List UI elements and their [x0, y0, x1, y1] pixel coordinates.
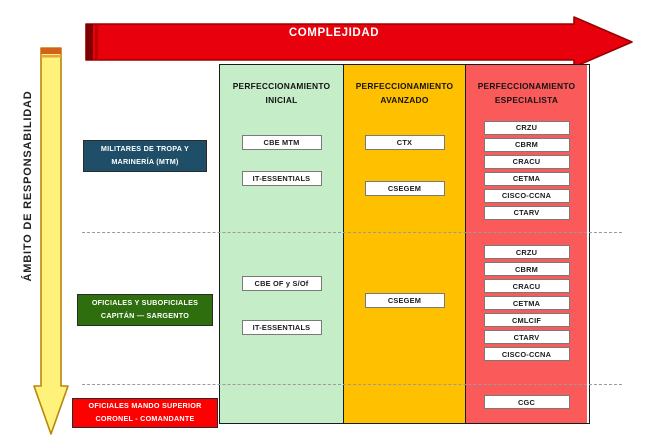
course-box[interactable]: CRZU	[484, 245, 570, 259]
course-box[interactable]: CTX	[365, 135, 445, 150]
course-box[interactable]: CGC	[484, 395, 570, 409]
course-box[interactable]: CETMA	[484, 296, 570, 310]
column-header-especialista-line2: ESPECIALISTA	[495, 94, 558, 108]
column-header-avanzado-line1: PERFECCIONAMIENTO	[356, 80, 454, 94]
role-label-oficiales-line2: CAPITÁN — SARGENTO	[101, 310, 189, 323]
column-header-inicial: PERFECCIONAMIENTO INICIAL	[220, 65, 343, 119]
course-box[interactable]: CTARV	[484, 206, 570, 220]
cell-especialista-mtm: CRZU CBRM CRACU CETMA CISCO-CCNA CTARV	[466, 119, 587, 232]
course-box[interactable]: CRACU	[484, 279, 570, 293]
column-header-inicial-line2: INICIAL	[266, 94, 298, 108]
diagram-canvas: COMPLEJIDAD ÁMBITO DE RESPONSABILIDAD PE…	[0, 0, 650, 440]
course-box[interactable]: CRACU	[484, 155, 570, 169]
course-box[interactable]: CBRM	[484, 262, 570, 276]
role-label-oficiales-suboficiales: OFICIALES Y SUBOFICIALES CAPITÁN — SARGE…	[77, 294, 213, 326]
course-box[interactable]: CBRM	[484, 138, 570, 152]
course-box[interactable]: CBE MTM	[242, 135, 322, 150]
column-header-avanzado-line2: AVANZADO	[380, 94, 428, 108]
course-box[interactable]: IT-ESSENTIALS	[242, 320, 322, 335]
role-label-mtm-line1: MILITARES DE TROPA Y	[101, 143, 189, 156]
role-label-oficiales-line1: OFICIALES Y SUBOFICIALES	[92, 297, 198, 310]
role-label-mtm-line2: MARINERÍA (MTM)	[111, 156, 178, 169]
cell-avanzado-oficiales: CSEGEM	[344, 232, 465, 383]
column-header-especialista: PERFECCIONAMIENTO ESPECIALISTA	[466, 65, 587, 119]
course-box[interactable]: CSEGEM	[365, 181, 445, 196]
course-box[interactable]: CSEGEM	[365, 293, 445, 308]
column-header-inicial-line1: PERFECCIONAMIENTO	[233, 80, 331, 94]
column-avanzado: PERFECCIONAMIENTO AVANZADO CTX CSEGEM CS…	[344, 65, 466, 423]
course-box[interactable]: CISCO-CCNA	[484, 347, 570, 361]
course-box[interactable]: CRZU	[484, 121, 570, 135]
column-especialista: PERFECCIONAMIENTO ESPECIALISTA CRZU CBRM…	[466, 65, 587, 423]
column-header-avanzado: PERFECCIONAMIENTO AVANZADO	[344, 65, 465, 119]
cell-avanzado-mtm: CTX CSEGEM	[344, 119, 465, 232]
cell-inicial-mando	[220, 383, 343, 423]
complejidad-arrow	[84, 16, 634, 68]
course-box[interactable]: CISCO-CCNA	[484, 189, 570, 203]
training-matrix: PERFECCIONAMIENTO INICIAL CBE MTM IT-ESS…	[219, 64, 590, 424]
cell-especialista-oficiales: CRZU CBRM CRACU CETMA CMLCIF CTARV CISCO…	[466, 232, 587, 383]
role-label-mando-line2: CORONEL - COMANDANTE	[95, 413, 194, 426]
course-box[interactable]: CBE OF y S/Of	[242, 276, 322, 291]
column-header-especialista-line1: PERFECCIONAMIENTO	[478, 80, 576, 94]
course-box[interactable]: IT-ESSENTIALS	[242, 171, 322, 186]
role-label-mtm: MILITARES DE TROPA Y MARINERÍA (MTM)	[83, 140, 207, 172]
role-label-mando-superior: OFICIALES MANDO SUPERIOR CORONEL - COMAN…	[72, 398, 218, 428]
cell-especialista-mando: CGC	[466, 383, 587, 423]
role-label-mando-line1: OFICIALES MANDO SUPERIOR	[88, 400, 201, 413]
cell-avanzado-mando	[344, 383, 465, 423]
course-box[interactable]: CMLCIF	[484, 313, 570, 327]
cell-inicial-oficiales: CBE OF y S/Of IT-ESSENTIALS	[220, 232, 343, 383]
course-box[interactable]: CETMA	[484, 172, 570, 186]
course-box[interactable]: CTARV	[484, 330, 570, 344]
column-inicial: PERFECCIONAMIENTO INICIAL CBE MTM IT-ESS…	[220, 65, 344, 423]
responsabilidad-arrow	[33, 46, 69, 436]
cell-inicial-mtm: CBE MTM IT-ESSENTIALS	[220, 119, 343, 232]
